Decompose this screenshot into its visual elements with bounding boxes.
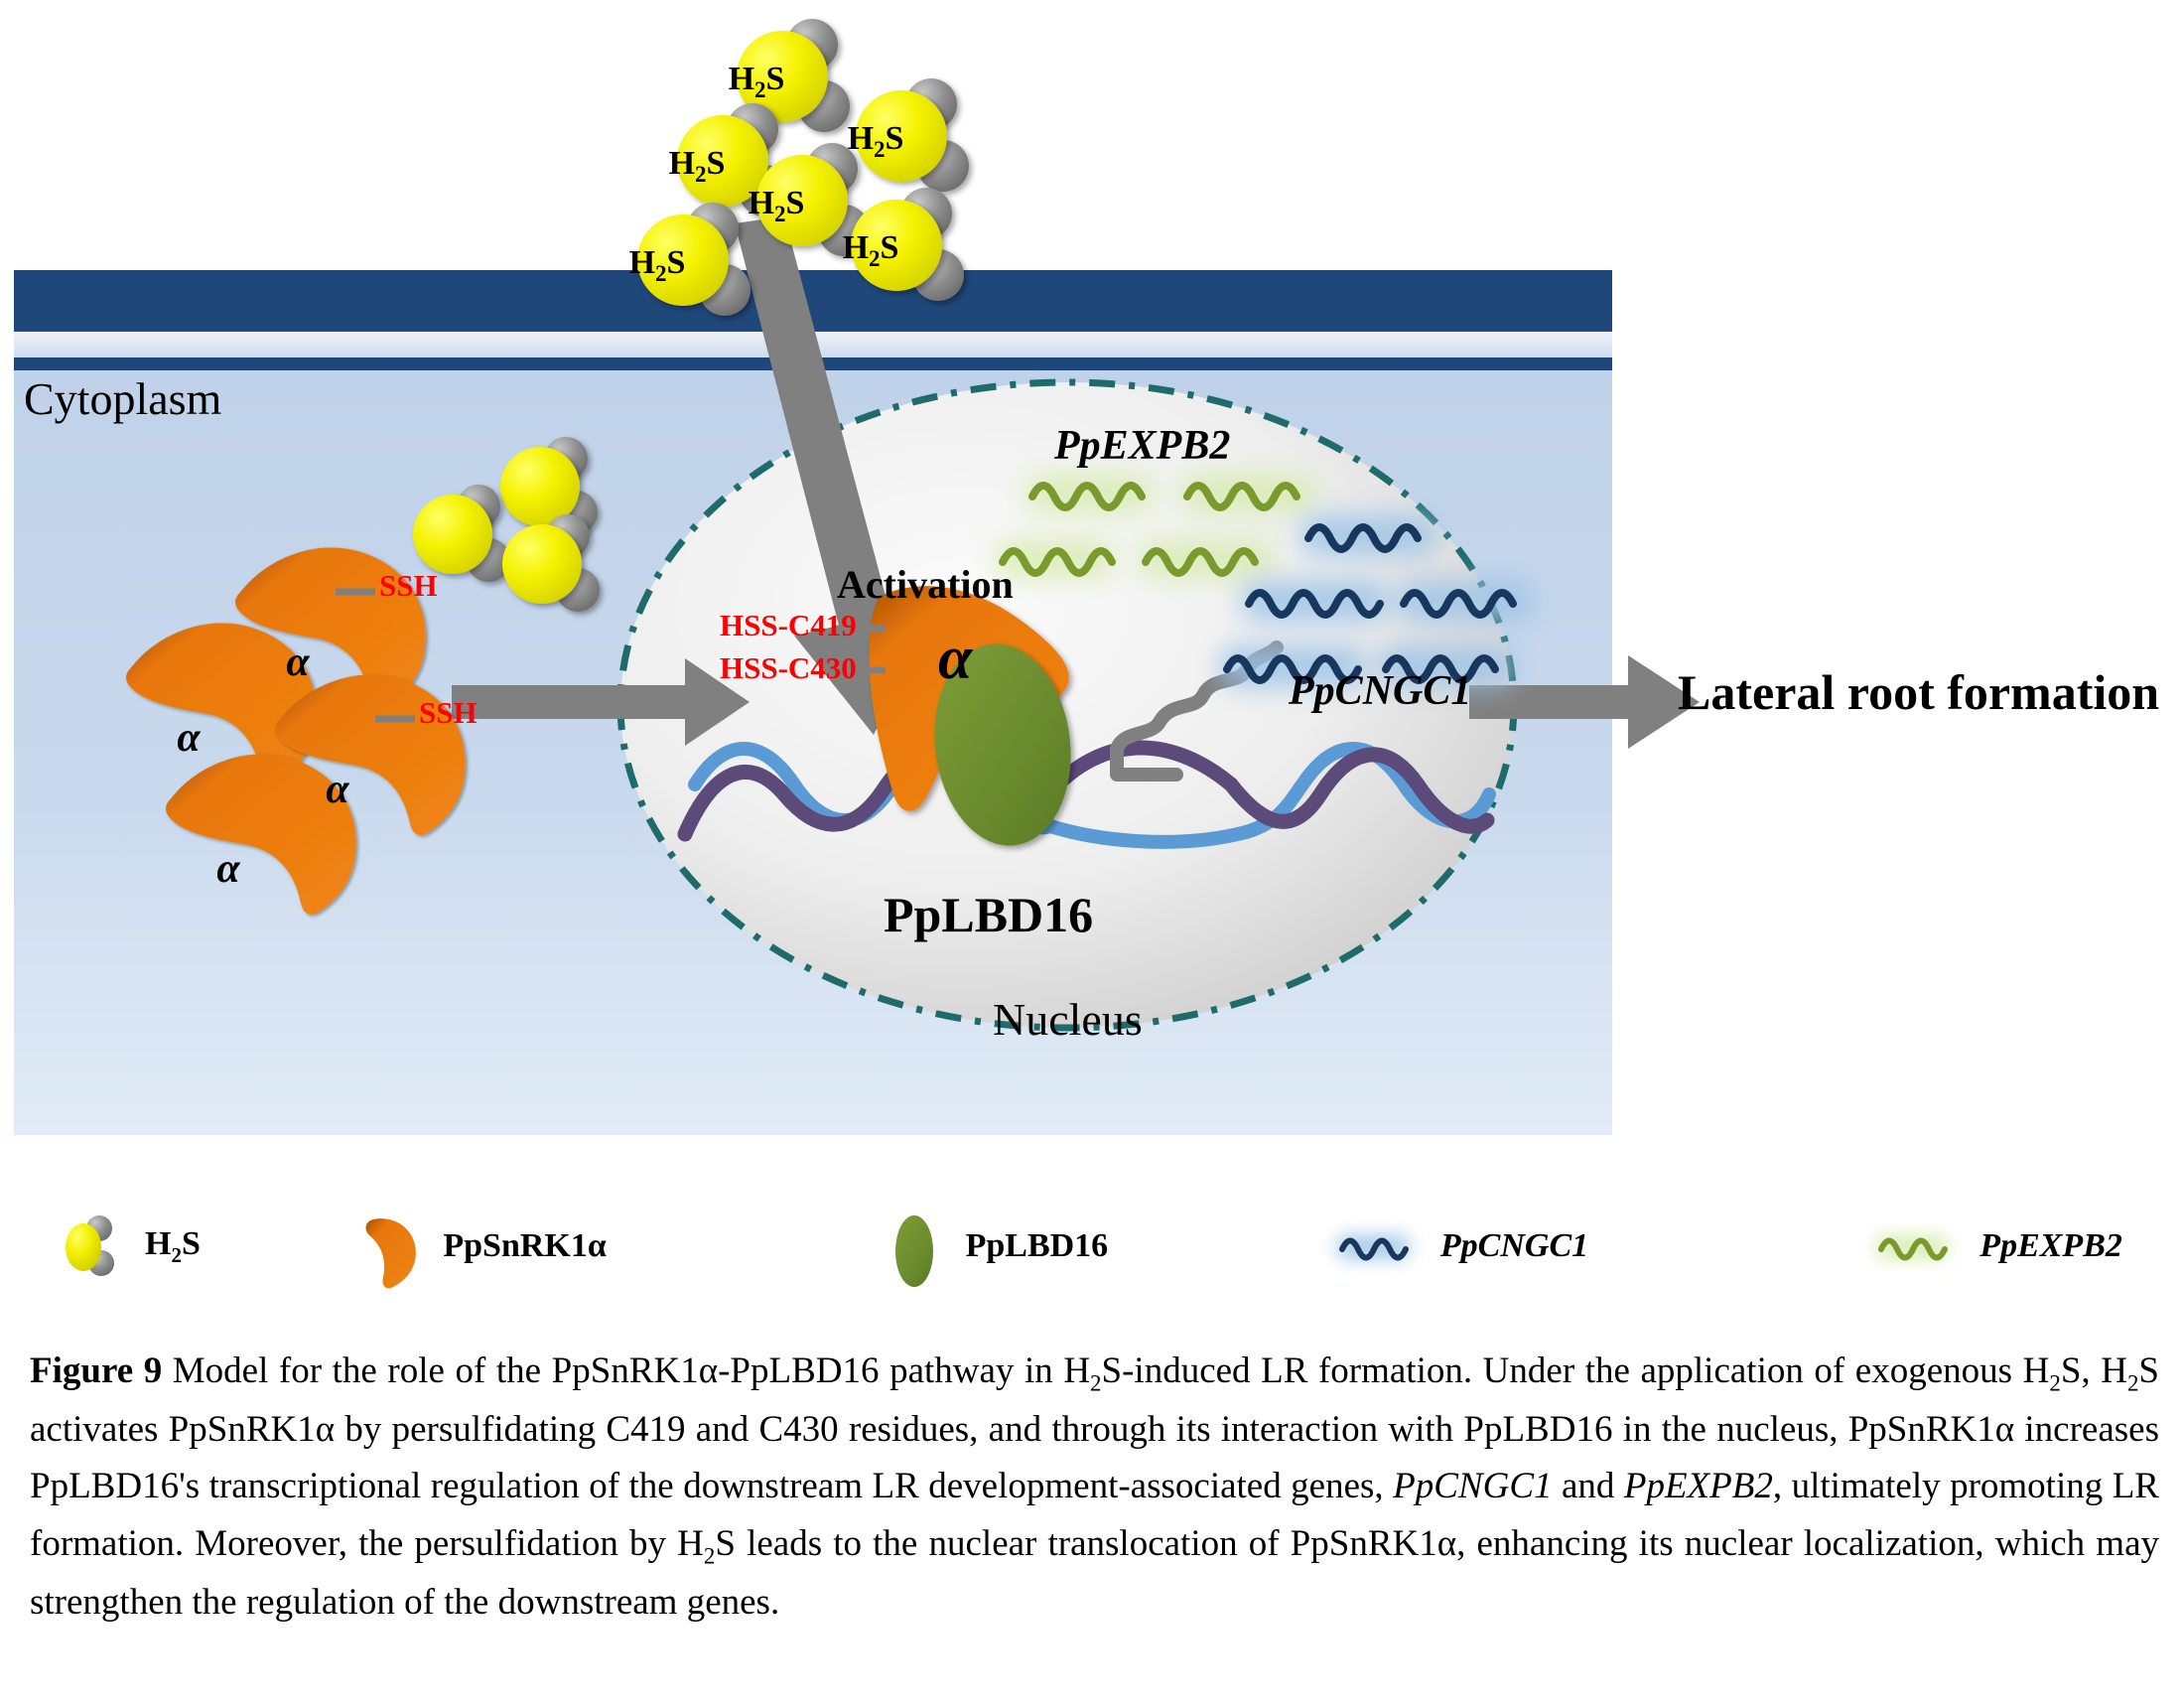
caption-sub-3: 2 — [2127, 1370, 2138, 1395]
legend-label-h2s: H2S — [145, 1225, 201, 1268]
lateral-root-formation-label: Lateral root formation — [1678, 663, 2159, 721]
lbd16-ellipse-icon — [881, 1211, 950, 1281]
svg-text:α: α — [177, 715, 201, 761]
caption-gene-expb2: PpEXPB2 — [1624, 1466, 1773, 1506]
caption-sub-4: 2 — [704, 1543, 715, 1568]
cytoplasm-label: Cytoplasm — [24, 372, 221, 425]
caption-text-1: Model for the role of the PpSnRK1α-PpLBD… — [162, 1351, 1090, 1391]
caption-sub-1: 2 — [1090, 1370, 1101, 1395]
h2s-molecule-icon — [60, 1211, 129, 1281]
expb2-wave-icon — [1859, 1211, 1964, 1281]
legend-item-snrk1a: PpSnRK1α — [357, 1211, 606, 1281]
svg-text:α: α — [216, 846, 240, 892]
ssh-label-1: SSH — [379, 568, 438, 604]
legend-item-h2s: H2S — [60, 1211, 201, 1281]
activation-label: Activation — [837, 561, 1014, 608]
snrk1a-shape-icon — [357, 1211, 427, 1281]
nucleus-label: Nucleus — [993, 993, 1143, 1046]
persulfidation-site-c419: HSS-C419 — [720, 608, 857, 643]
expb2-gene-label: PpEXPB2 — [1054, 422, 1230, 470]
figure-diagram: H2S H2S H2S H2S H2S H2S α α α α Cytoplas… — [0, 0, 2184, 1192]
figure-caption: Figure 9 Model for the role of the PpSnR… — [30, 1343, 2159, 1631]
legend-label-lbd16: PpLBD16 — [966, 1227, 1109, 1265]
cngc1-wave-icon — [1320, 1211, 1425, 1281]
legend: H2S PpSnRK1α — [0, 1192, 2184, 1341]
caption-text-3: S, H — [2061, 1351, 2127, 1391]
snrk1a-nucleus-alpha-label: α — [938, 624, 972, 694]
persulfidation-site-c430: HSS-C430 — [720, 650, 857, 686]
legend-item-lbd16: PpLBD16 — [881, 1211, 1109, 1281]
svg-text:α: α — [286, 640, 310, 685]
legend-label-snrk1a: PpSnRK1α — [443, 1227, 606, 1265]
ssh-label-2: SSH — [419, 695, 478, 731]
cngc1-gene-label: PpCNGC1 — [1289, 667, 1471, 715]
caption-sub-2: 2 — [2049, 1370, 2060, 1395]
lbd16-label: PpLBD16 — [884, 886, 1093, 943]
legend-label-expb2: PpEXPB2 — [1979, 1227, 2122, 1265]
caption-gene-cngc1: PpCNGC1 — [1393, 1466, 1552, 1506]
legend-item-cngc1: PpCNGC1 — [1320, 1211, 1588, 1281]
svg-text:α: α — [326, 767, 349, 812]
legend-label-cngc1: PpCNGC1 — [1440, 1227, 1588, 1265]
caption-figure-number: Figure 9 — [30, 1351, 162, 1391]
legend-item-expb2: PpEXPB2 — [1859, 1211, 2122, 1281]
caption-text-2: S-induced LR formation. Under the applic… — [1102, 1351, 2050, 1391]
caption-text-5: and — [1553, 1466, 1624, 1506]
